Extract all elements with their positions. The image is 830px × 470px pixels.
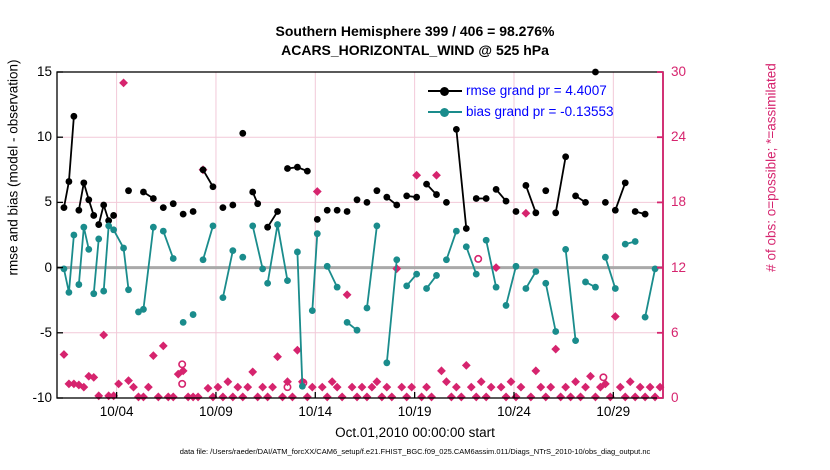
obs-possible-marker — [179, 361, 185, 367]
series-point-0 — [180, 211, 187, 218]
obs-assimilated-marker — [382, 383, 391, 392]
obs-assimilated-marker — [402, 393, 411, 402]
obs-assimilated-marker — [94, 391, 103, 400]
series-point-1 — [140, 306, 147, 313]
series-point-1 — [125, 286, 132, 293]
obs-assimilated-marker — [631, 393, 640, 402]
obs-assimilated-marker — [204, 384, 213, 393]
series-point-1 — [66, 289, 73, 296]
series-point-0 — [463, 225, 470, 232]
obs-assimilated-marker — [512, 393, 521, 402]
x-axis-label: Oct.01,2010 00:00:00 start — [0, 425, 830, 440]
series-line-1 — [387, 260, 397, 363]
series-point-0 — [90, 212, 97, 219]
obs-assimilated-marker — [119, 78, 128, 87]
series-point-1 — [383, 359, 390, 366]
series-point-1 — [503, 302, 510, 309]
obs-assimilated-marker — [556, 393, 565, 402]
legend-label-rmse: rmse grand pr = 4.4007 — [466, 80, 607, 101]
obs-possible-marker — [600, 374, 606, 380]
series-point-1 — [284, 277, 291, 284]
obs-assimilated-marker — [318, 383, 327, 392]
legend-label-bias: bias grand pr = -0.13553 — [466, 101, 613, 122]
series-point-1 — [403, 282, 410, 289]
series-point-0 — [229, 202, 236, 209]
series-point-0 — [95, 221, 102, 228]
series-line-1 — [566, 249, 576, 340]
series-point-1 — [61, 266, 68, 273]
legend-item-bias[interactable]: bias grand pr = -0.13553 — [428, 101, 613, 122]
series-line-1 — [223, 251, 233, 298]
series-point-1 — [180, 319, 187, 326]
series-point-1 — [150, 224, 157, 231]
series-point-0 — [75, 207, 82, 214]
series-point-1 — [552, 328, 559, 335]
obs-assimilated-marker — [487, 383, 496, 392]
series-point-0 — [453, 126, 460, 133]
series-point-1 — [309, 307, 316, 314]
series-point-0 — [433, 191, 440, 198]
series-point-0 — [274, 208, 281, 215]
obs-assimilated-marker — [248, 368, 257, 377]
obs-assimilated-marker — [353, 393, 362, 402]
obs-assimilated-marker — [641, 393, 650, 402]
obs-assimilated-marker — [611, 312, 620, 321]
series-point-0 — [582, 199, 589, 206]
obs-assimilated-marker — [616, 383, 625, 392]
obs-assimilated-marker — [219, 393, 228, 402]
series-line-1 — [104, 226, 109, 291]
series-point-0 — [304, 168, 311, 175]
series-point-0 — [324, 207, 331, 214]
obs-assimilated-marker — [303, 393, 312, 402]
obs-assimilated-marker — [154, 393, 163, 402]
series-point-1 — [483, 237, 490, 244]
series-point-1 — [443, 256, 450, 263]
series-point-1 — [602, 254, 609, 261]
series-point-0 — [254, 200, 261, 207]
obs-assimilated-marker — [223, 377, 232, 386]
series-line-1 — [114, 230, 129, 290]
obs-assimilated-marker — [412, 171, 421, 180]
series-point-0 — [220, 204, 227, 211]
obs-assimilated-marker — [452, 383, 461, 392]
series-point-1 — [542, 280, 549, 287]
series-point-0 — [383, 194, 390, 201]
obs-assimilated-marker — [447, 393, 456, 402]
series-point-0 — [125, 187, 132, 194]
series-point-0 — [249, 189, 256, 196]
obs-assimilated-marker — [477, 377, 486, 386]
series-point-0 — [100, 202, 107, 209]
obs-assimilated-marker — [129, 383, 138, 392]
series-point-0 — [354, 196, 361, 203]
series-point-1 — [75, 281, 82, 288]
series-point-1 — [562, 246, 569, 253]
series-line-1 — [297, 252, 302, 386]
obs-assimilated-marker — [323, 393, 332, 402]
series-point-0 — [210, 183, 217, 190]
obs-assimilated-marker — [144, 383, 153, 392]
series-point-1 — [264, 280, 271, 287]
obs-assimilated-marker — [566, 393, 575, 402]
series-line-1 — [546, 283, 556, 331]
series-point-0 — [552, 209, 559, 216]
series-point-0 — [284, 165, 291, 172]
obs-assimilated-marker — [273, 352, 282, 361]
obs-assimilated-marker — [517, 383, 526, 392]
series-point-1 — [210, 222, 217, 229]
obs-assimilated-marker — [348, 383, 357, 392]
series-point-1 — [95, 236, 102, 243]
obs-assimilated-marker — [432, 171, 441, 180]
series-point-1 — [393, 256, 400, 263]
series-point-0 — [413, 194, 420, 201]
obs-assimilated-marker — [149, 351, 158, 360]
series-point-0 — [239, 130, 246, 137]
series-point-0 — [632, 208, 639, 215]
obs-assimilated-marker — [159, 341, 168, 350]
series-point-1 — [334, 284, 341, 291]
series-point-1 — [423, 285, 430, 292]
obs-assimilated-marker — [531, 366, 540, 375]
series-point-0 — [403, 192, 410, 199]
obs-assimilated-marker — [546, 383, 555, 392]
series-point-1 — [354, 327, 361, 334]
series-line-1 — [268, 225, 288, 284]
series-point-0 — [642, 211, 649, 218]
obs-assimilated-marker — [551, 345, 560, 354]
series-point-1 — [622, 241, 629, 248]
series-point-1 — [453, 228, 460, 235]
series-point-0 — [170, 200, 177, 207]
obs-assimilated-marker — [114, 379, 123, 388]
series-line-1 — [163, 231, 173, 258]
obs-assimilated-marker — [99, 331, 108, 340]
series-point-0 — [612, 207, 619, 214]
series-point-0 — [70, 113, 77, 120]
obs-assimilated-marker — [561, 383, 570, 392]
series-line-1 — [486, 240, 496, 287]
series-point-1 — [120, 245, 127, 252]
obs-assimilated-marker — [358, 383, 367, 392]
series-point-1 — [170, 255, 177, 262]
series-point-0 — [393, 202, 400, 209]
series-point-1 — [592, 284, 599, 291]
series-point-0 — [503, 198, 510, 205]
obs-assimilated-marker — [536, 383, 545, 392]
series-point-1 — [632, 238, 639, 245]
obs-assimilated-marker — [387, 393, 396, 402]
series-point-1 — [85, 246, 92, 253]
series-point-1 — [90, 290, 97, 297]
series-point-1 — [229, 247, 236, 254]
data-file-footer: data file: /Users/raeder/DAI/ATM_forcXX/… — [0, 447, 830, 456]
series-point-1 — [324, 263, 331, 270]
obs-assimilated-marker — [626, 377, 635, 386]
series-line-1 — [645, 269, 655, 317]
series-point-0 — [200, 166, 207, 173]
figure-root: Southern Hemisphere 399 / 406 = 98.276% … — [0, 0, 830, 470]
obs-assimilated-marker — [238, 393, 247, 402]
obs-assimilated-marker — [442, 377, 451, 386]
series-point-1 — [274, 221, 281, 228]
series-point-0 — [344, 208, 351, 215]
series-point-0 — [150, 195, 157, 202]
series-point-1 — [413, 271, 420, 278]
series-point-0 — [264, 224, 271, 231]
series-point-1 — [220, 294, 227, 301]
obs-possible-marker — [475, 256, 481, 262]
series-point-1 — [239, 254, 246, 261]
obs-assimilated-marker — [526, 393, 535, 402]
obs-assimilated-marker — [278, 393, 287, 402]
series-point-0 — [294, 164, 301, 171]
series-point-1 — [473, 271, 480, 278]
obs-assimilated-marker — [377, 393, 386, 402]
series-point-0 — [61, 204, 68, 211]
obs-assimilated-marker — [427, 393, 436, 402]
series-point-1 — [294, 249, 301, 256]
series-point-0 — [85, 196, 92, 203]
series-point-1 — [572, 337, 579, 344]
obs-assimilated-marker — [502, 393, 511, 402]
series-point-1 — [314, 230, 321, 237]
obs-assimilated-marker — [253, 393, 262, 402]
obs-assimilated-marker — [228, 393, 237, 402]
series-point-0 — [443, 199, 450, 206]
series-line-1 — [79, 227, 89, 284]
series-line-1 — [446, 231, 456, 260]
obs-assimilated-marker — [313, 187, 322, 196]
series-point-0 — [542, 187, 549, 194]
plot-canvas — [0, 0, 830, 470]
series-line-0 — [526, 185, 536, 212]
series-point-0 — [622, 179, 629, 186]
series-line-1 — [253, 226, 263, 269]
series-point-1 — [259, 266, 266, 273]
series-line-0 — [64, 116, 74, 207]
obs-assimilated-marker — [233, 383, 242, 392]
obs-assimilated-marker — [258, 383, 267, 392]
series-point-1 — [373, 222, 380, 229]
obs-assimilated-marker — [437, 366, 446, 375]
obs-assimilated-marker — [581, 383, 590, 392]
series-point-1 — [80, 224, 87, 231]
obs-assimilated-marker — [522, 209, 531, 218]
series-point-1 — [364, 305, 371, 312]
obs-possible-marker — [179, 381, 185, 387]
obs-assimilated-marker — [467, 383, 476, 392]
obs-assimilated-marker — [263, 393, 272, 402]
legend-marker-bias — [428, 106, 462, 118]
series-point-1 — [652, 266, 659, 273]
series-point-1 — [190, 311, 197, 318]
series-point-1 — [582, 279, 589, 286]
obs-assimilated-marker — [139, 393, 148, 402]
series-point-0 — [483, 195, 490, 202]
series-point-1 — [612, 285, 619, 292]
obs-assimilated-marker — [457, 393, 466, 402]
series-point-1 — [463, 243, 470, 250]
legend-marker-rmse — [428, 85, 462, 97]
series-point-0 — [473, 195, 480, 202]
obs-assimilated-marker — [363, 393, 372, 402]
series-point-0 — [562, 153, 569, 160]
obs-assimilated-marker — [288, 393, 297, 402]
obs-assimilated-marker — [268, 383, 277, 392]
obs-assimilated-marker — [591, 393, 600, 402]
obs-assimilated-marker — [397, 383, 406, 392]
series-point-0 — [314, 216, 321, 223]
chart-legend: rmse grand pr = 4.4007 bias grand pr = -… — [428, 80, 613, 122]
series-point-1 — [100, 288, 107, 295]
series-point-1 — [493, 284, 500, 291]
series-line-1 — [203, 226, 213, 260]
series-point-0 — [190, 208, 197, 215]
series-line-1 — [327, 266, 337, 287]
series-point-0 — [334, 207, 341, 214]
series-point-0 — [110, 212, 117, 219]
obs-assimilated-marker — [169, 393, 178, 402]
series-point-1 — [532, 268, 539, 275]
series-point-0 — [66, 178, 73, 185]
series-point-1 — [523, 285, 530, 292]
obs-assimilated-marker — [124, 376, 133, 385]
series-line-0 — [556, 157, 566, 213]
obs-assimilated-marker — [462, 361, 471, 370]
series-point-1 — [110, 226, 117, 233]
obs-assimilated-marker — [651, 393, 660, 402]
series-point-1 — [344, 319, 351, 326]
obs-assimilated-marker — [636, 383, 645, 392]
legend-item-rmse[interactable]: rmse grand pr = 4.4007 — [428, 80, 613, 101]
obs-assimilated-marker — [417, 393, 426, 402]
series-point-0 — [572, 192, 579, 199]
obs-assimilated-marker — [576, 393, 585, 402]
series-point-1 — [299, 383, 306, 390]
obs-assimilated-marker — [60, 350, 69, 359]
series-line-0 — [615, 183, 625, 210]
series-point-1 — [160, 228, 167, 235]
series-point-0 — [160, 204, 167, 211]
series-point-1 — [642, 314, 649, 321]
series-point-1 — [249, 222, 256, 229]
series-point-1 — [70, 232, 77, 239]
series-point-0 — [364, 199, 371, 206]
obs-assimilated-marker — [472, 393, 481, 402]
obs-assimilated-marker — [422, 383, 431, 392]
obs-assimilated-marker — [586, 372, 595, 381]
series-point-0 — [532, 209, 539, 216]
series-point-0 — [493, 186, 500, 193]
series-point-0 — [80, 179, 87, 186]
obs-assimilated-marker — [571, 377, 580, 386]
series-point-0 — [513, 208, 520, 215]
obs-assimilated-marker — [194, 393, 203, 402]
obs-assimilated-marker — [621, 393, 630, 402]
series-point-1 — [513, 263, 520, 270]
obs-assimilated-marker — [338, 393, 347, 402]
series-point-1 — [200, 256, 207, 263]
series-point-0 — [602, 199, 609, 206]
obs-assimilated-marker — [497, 383, 506, 392]
obs-assimilated-marker — [541, 393, 550, 402]
obs-assimilated-marker — [214, 383, 223, 392]
series-line-1 — [138, 227, 153, 312]
series-line-0 — [456, 129, 466, 228]
obs-assimilated-marker — [343, 290, 352, 299]
obs-assimilated-marker — [482, 393, 491, 402]
series-point-0 — [423, 181, 430, 188]
obs-assimilated-marker — [243, 383, 252, 392]
series-point-0 — [373, 187, 380, 194]
series-line-1 — [64, 235, 74, 292]
series-point-1 — [433, 272, 440, 279]
obs-assimilated-marker — [646, 383, 655, 392]
series-point-0 — [140, 189, 147, 196]
series-point-0 — [523, 182, 530, 189]
